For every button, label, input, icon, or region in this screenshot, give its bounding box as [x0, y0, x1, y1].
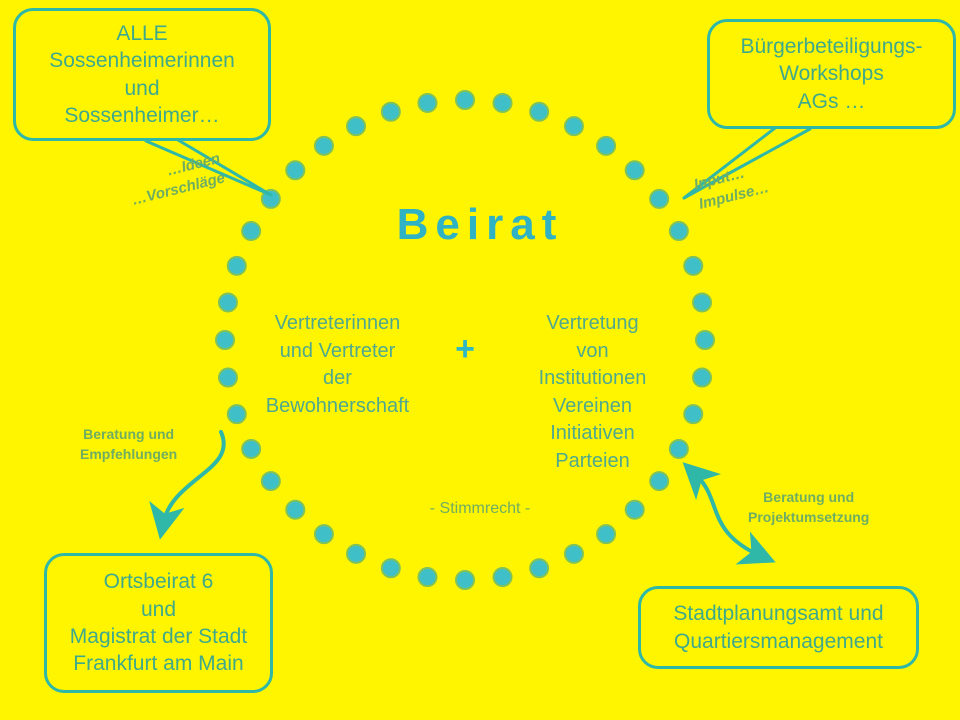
note-beratung-projektumsetzung: Beratung und Projektumsetzung: [748, 488, 869, 527]
bubble-residents-line-3: und: [26, 75, 258, 102]
center-left-line-3: der: [245, 365, 430, 393]
ring-dot: [418, 94, 436, 112]
ring-dot: [315, 137, 333, 155]
ring-dot: [456, 571, 474, 589]
ring-dot: [693, 369, 711, 387]
ring-dot: [382, 559, 400, 577]
note-beratung-projekt-line-2: Projektumsetzung: [748, 509, 869, 525]
bubble-workshops[interactable]: Bürgerbeteiligungs- Workshops AGs …: [707, 19, 956, 129]
bubble-residents[interactable]: ALLE Sossenheimerinnen und Sossenheimer…: [13, 8, 271, 141]
ring-dot: [684, 405, 702, 423]
ring-dot: [565, 545, 583, 563]
ring-dot: [684, 257, 702, 275]
center-column-right: Vertretung von Institutionen Vereinen In…: [500, 310, 685, 476]
ring-dot: [494, 568, 512, 586]
box-ortsbeirat-line-4: Frankfurt am Main: [57, 650, 260, 677]
box-stadtplanung[interactable]: Stadtplanungsamt und Quartiersmanagement: [638, 586, 919, 669]
center-left-line-2: und Vertreter: [245, 338, 430, 366]
bubble-workshops-line-2: Workshops: [720, 60, 943, 87]
ring-dot: [456, 91, 474, 109]
ring-dot: [347, 117, 365, 135]
ring-dot: [418, 568, 436, 586]
ring-dot: [347, 545, 365, 563]
diagram-canvas: ALLE Sossenheimerinnen und Sossenheimer……: [0, 0, 960, 720]
ring-dot: [219, 369, 237, 387]
center-column-left: Vertreterinnen und Vertreter der Bewohne…: [245, 310, 430, 420]
bubble-residents-line-4: Sossenheimer…: [26, 102, 258, 129]
box-ortsbeirat[interactable]: Ortsbeirat 6 und Magistrat der Stadt Fra…: [44, 553, 273, 693]
note-beratung-empfehlungen-line-1: Beratung und: [83, 426, 174, 442]
center-right-line-4: Vereinen: [500, 393, 685, 421]
ring-dot: [565, 117, 583, 135]
note-beratung-empfehlungen: Beratung und Empfehlungen: [80, 425, 177, 464]
bubble-residents-line-1: ALLE: [26, 20, 258, 47]
ring-dot: [693, 293, 711, 311]
ring-dot: [286, 161, 304, 179]
box-ortsbeirat-line-1: Ortsbeirat 6: [57, 568, 260, 595]
bubble-workshops-line-3: AGs …: [720, 88, 943, 115]
center-right-line-2: von: [500, 338, 685, 366]
center-left-line-4: Bewohnerschaft: [245, 393, 430, 421]
ring-dot: [696, 331, 714, 349]
ring-dot: [530, 103, 548, 121]
ring-dot: [219, 293, 237, 311]
bubble-workshops-line-1: Bürgerbeteiligungs-: [720, 33, 943, 60]
box-stadtplanung-line-1: Stadtplanungsamt und: [651, 600, 906, 627]
ring-dot: [228, 257, 246, 275]
ring-dot: [315, 525, 333, 543]
center-right-line-6: Parteien: [500, 448, 685, 476]
center-right-line-3: Institutionen: [500, 365, 685, 393]
center-columns: Vertreterinnen und Vertreter der Bewohne…: [245, 310, 685, 476]
box-ortsbeirat-line-2: und: [57, 596, 260, 623]
ring-dot: [597, 137, 615, 155]
center-right-line-1: Vertretung: [500, 310, 685, 338]
ring-dot: [228, 405, 246, 423]
center-left-line-1: Vertreterinnen: [245, 310, 430, 338]
box-stadtplanung-line-2: Quartiersmanagement: [651, 628, 906, 655]
ring-dot: [216, 331, 234, 349]
ring-dot: [382, 103, 400, 121]
note-beratung-projekt-line-1: Beratung und: [763, 489, 854, 505]
ring-dot: [597, 525, 615, 543]
bubble-residents-line-2: Sossenheimerinnen: [26, 47, 258, 74]
note-beratung-empfehlungen-line-2: Empfehlungen: [80, 446, 177, 462]
ring-dot: [494, 94, 512, 112]
center-right-line-5: Initiativen: [500, 420, 685, 448]
ring-dot: [530, 559, 548, 577]
plus-icon: +: [445, 332, 485, 366]
ring-dot: [626, 161, 644, 179]
box-ortsbeirat-line-3: Magistrat der Stadt: [57, 623, 260, 650]
